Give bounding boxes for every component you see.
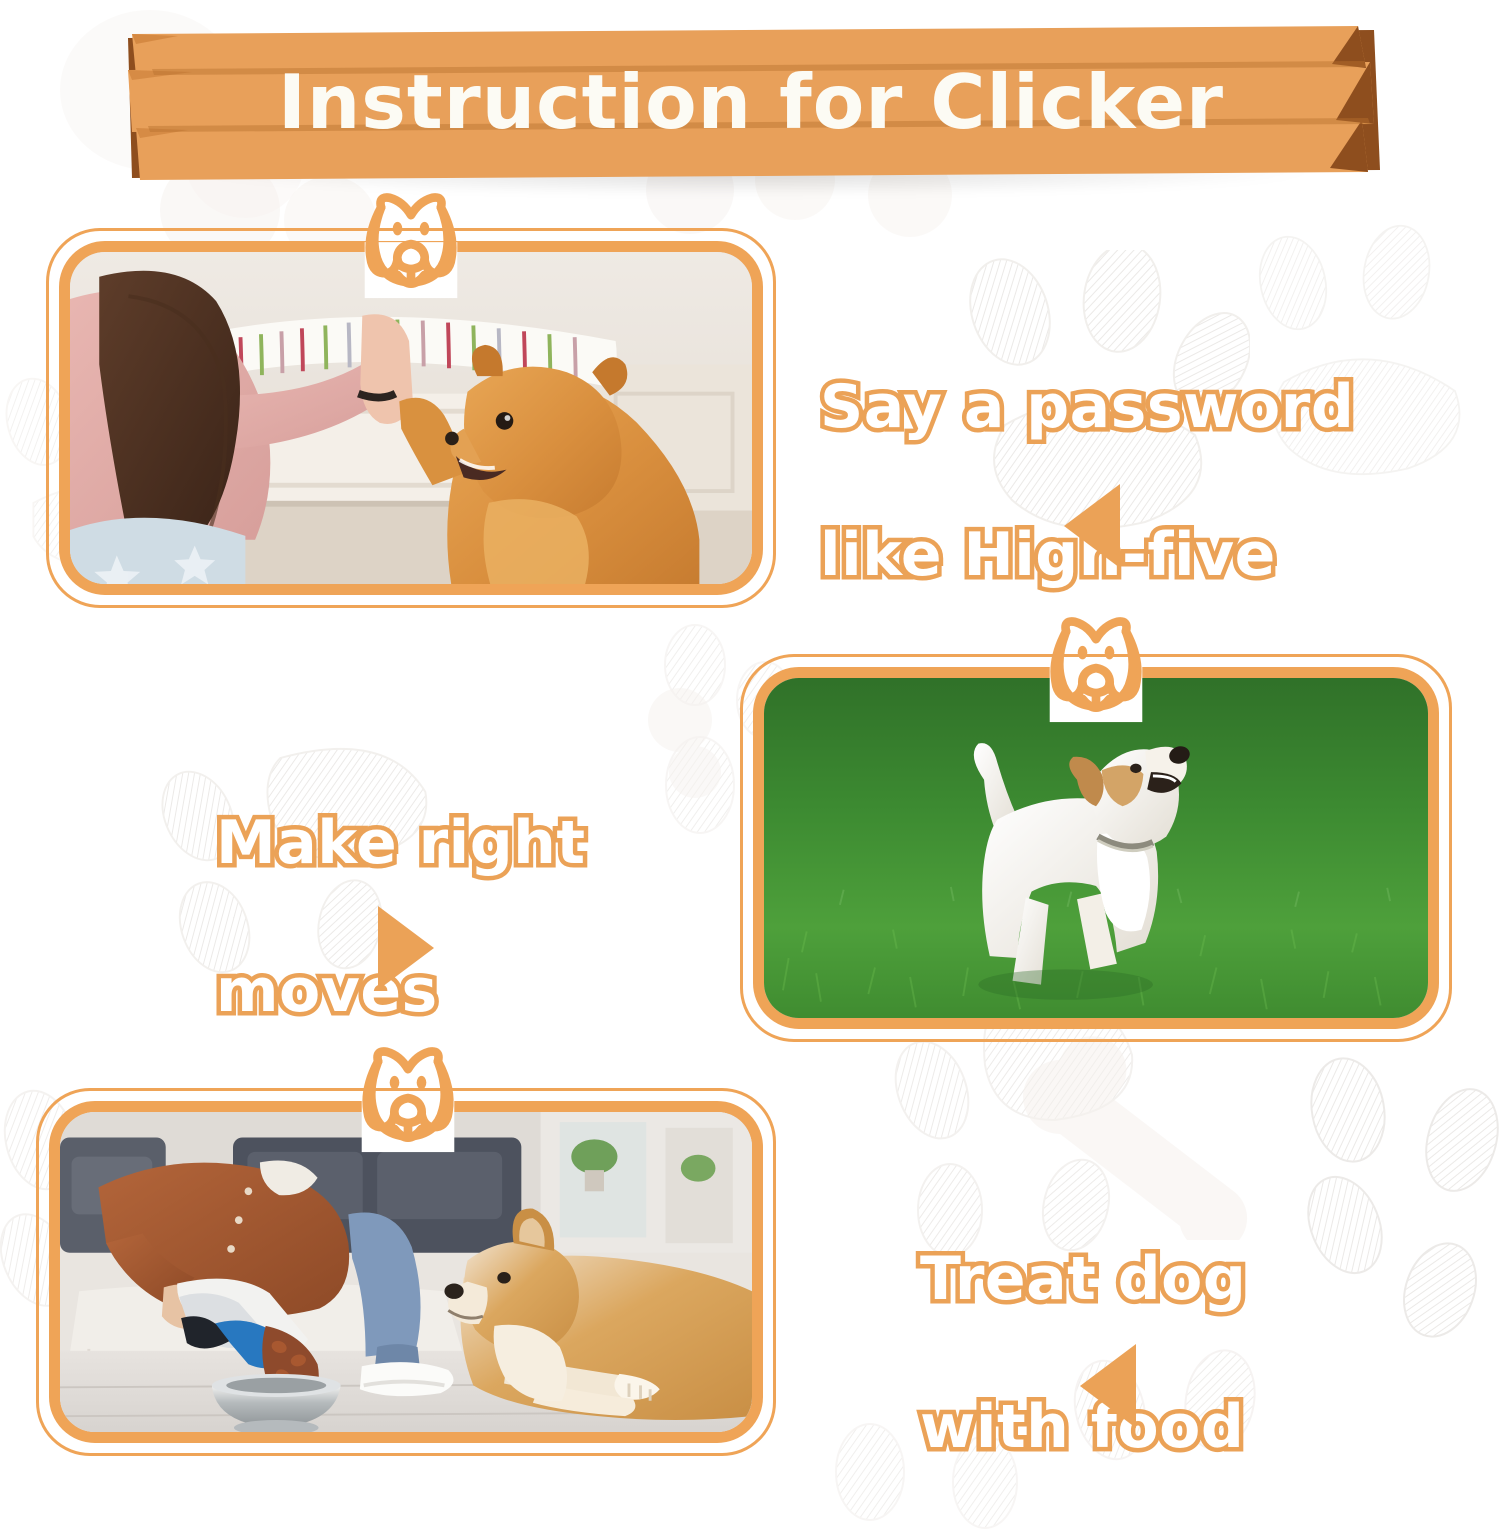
step-2-photo-card[interactable]: [740, 654, 1452, 1042]
step-2-line-1: Make right: [216, 806, 736, 880]
step-1-line-2: like High-five: [820, 518, 1420, 592]
step-1-photo-card[interactable]: [46, 228, 776, 608]
infographic-root: Instruction for Clicker: [0, 0, 1500, 1500]
photo-feeding-dog: [60, 1112, 752, 1432]
step-2-arrow-right-icon: [378, 906, 434, 990]
page-title: Instruction for Clicker: [122, 50, 1380, 154]
step-1-instruction-text: Say a password like High-five: [820, 296, 1420, 666]
step-3-instruction-text: Treat dog with food: [920, 1168, 1440, 1538]
dog-head-icon: [335, 192, 487, 300]
step-3-photo-card[interactable]: [36, 1088, 776, 1456]
title-banner: Instruction for Clicker: [122, 20, 1380, 185]
step-2-instruction-text: Make right moves: [216, 732, 736, 1102]
step-3-line-1: Treat dog: [920, 1242, 1440, 1316]
step-1-line-1: Say a password: [820, 370, 1420, 444]
step-2-line-2: moves: [216, 954, 736, 1028]
step-1-arrow-left-icon: [1064, 484, 1120, 568]
photo-high-five: [70, 252, 752, 584]
step-3-arrow-left-icon: [1080, 1344, 1136, 1428]
step-3-line-2: with food: [920, 1390, 1440, 1464]
photo-dog-on-grass: [764, 678, 1428, 1018]
